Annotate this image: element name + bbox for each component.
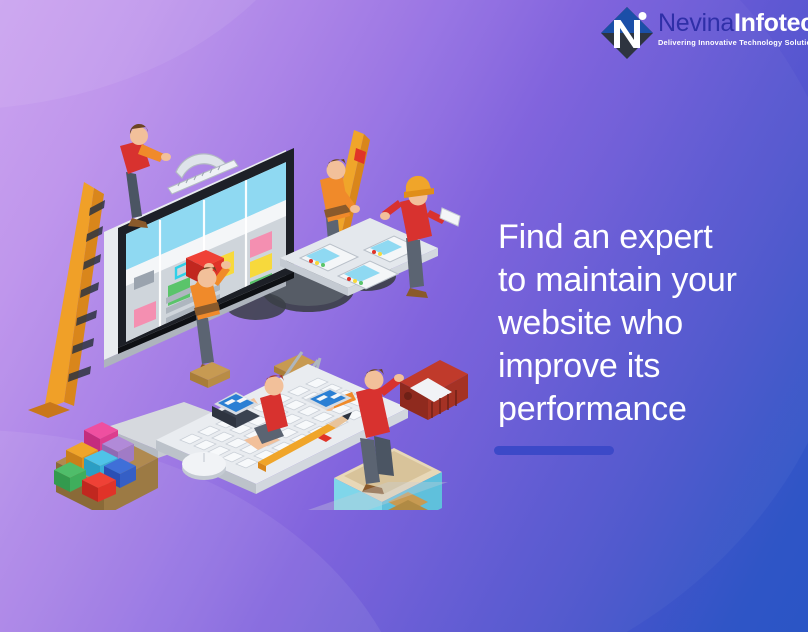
- brand-tagline: Delivering Innovative Technology Solutio…: [658, 38, 804, 47]
- headline-line: Find an expert: [498, 216, 790, 259]
- nevina-diamond-n-logo-icon: [598, 4, 656, 62]
- brand-name-part1: Nevina: [658, 9, 734, 37]
- ladder: [28, 182, 105, 418]
- brand-logo[interactable]: NevinaInfotech Delivering Innovative Tec…: [598, 2, 804, 64]
- brand-name-part2: Infotech: [734, 9, 808, 37]
- headline-line: to maintain your: [498, 259, 790, 302]
- background-arc-top: [0, 0, 330, 110]
- brand-logo-text: NevinaInfotech Delivering Innovative Tec…: [658, 10, 804, 47]
- headline: Find an expert to maintain your website …: [498, 216, 790, 431]
- promo-banner: NevinaInfotech Delivering Innovative Tec…: [0, 0, 808, 632]
- headline-line: performance: [498, 388, 790, 431]
- headline-accent-bar: [494, 446, 614, 455]
- mouse: [182, 452, 226, 480]
- books: [400, 360, 468, 420]
- headline-line: improve its: [498, 345, 790, 388]
- headline-line: website who: [498, 302, 790, 345]
- brand-name: NevinaInfotech: [658, 10, 804, 37]
- isometric-website-maintenance-illustration: [8, 110, 488, 510]
